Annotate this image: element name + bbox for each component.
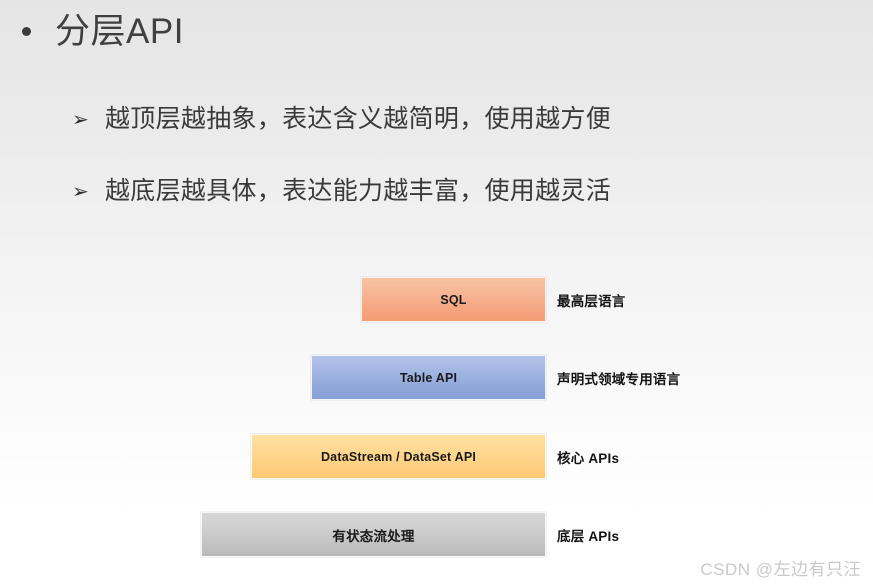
diagram-layer-bar: DataStream / DataSet API <box>251 434 546 479</box>
diagram-layer-bar: Table API <box>311 355 546 400</box>
diagram-layer-bar: SQL <box>361 277 546 322</box>
layered-api-diagram: SQL 最高层语言 Table API 声明式领域专用语言 DataStream… <box>0 0 873 587</box>
diagram-layer-bar: 有状态流处理 <box>201 512 546 557</box>
diagram-layer-datastream-dataset-api: DataStream / DataSet API 核心 APIs <box>0 434 873 479</box>
diagram-layer-side-label: 声明式领域专用语言 <box>557 355 680 400</box>
diagram-layer-bar-label: Table API <box>400 371 457 385</box>
diagram-layer-sql: SQL 最高层语言 <box>0 277 873 322</box>
diagram-layer-bar-label: DataStream / DataSet API <box>321 450 476 464</box>
diagram-layer-side-label: 底层 APIs <box>557 512 619 557</box>
watermark: CSDN @左边有只汪 <box>700 555 861 580</box>
diagram-layer-side-label: 最高层语言 <box>557 277 626 322</box>
slide-canvas: 分层API ➢ 越顶层越抽象，表达含义越简明，使用越方便 ➢ 越底层越具体，表达… <box>0 0 873 587</box>
diagram-layer-bar-label: SQL <box>440 293 466 307</box>
diagram-layer-table-api: Table API 声明式领域专用语言 <box>0 355 873 400</box>
diagram-layer-side-label: 核心 APIs <box>557 434 619 479</box>
diagram-layer-stateful-stream-processing: 有状态流处理 底层 APIs <box>0 512 873 557</box>
diagram-layer-bar-label: 有状态流处理 <box>332 525 414 545</box>
